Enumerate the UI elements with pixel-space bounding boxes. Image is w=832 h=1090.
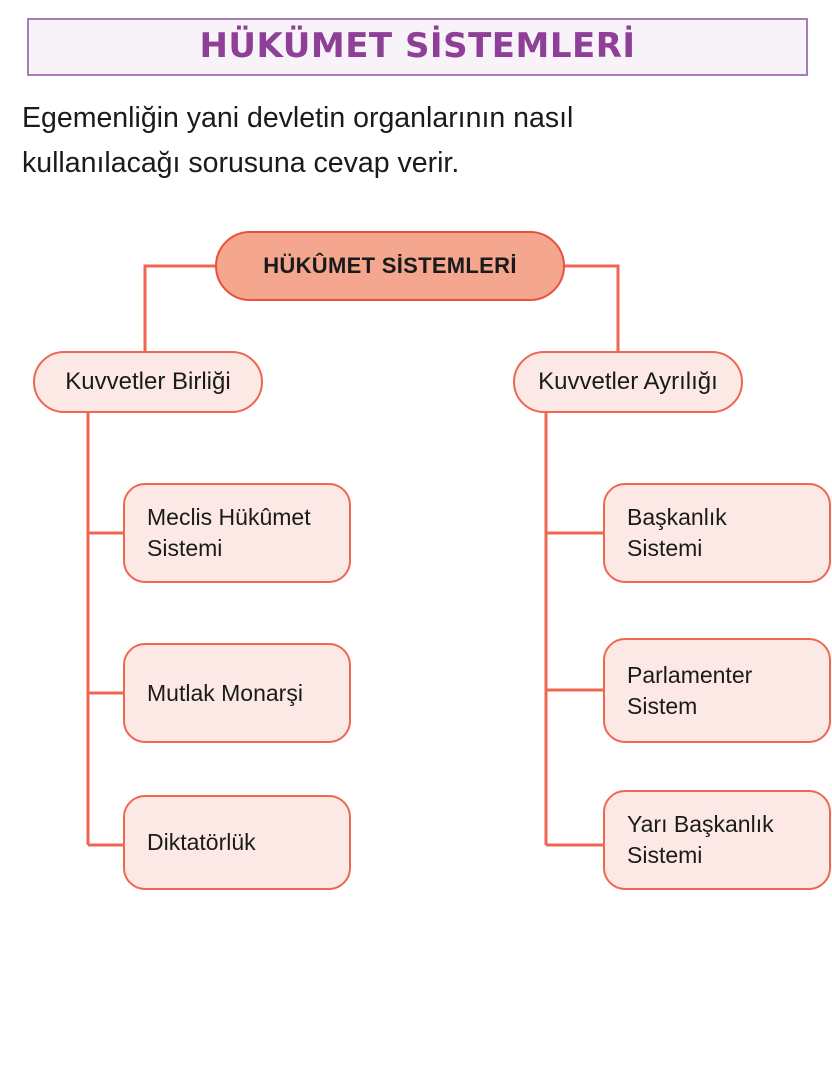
node-branch-right-label: Kuvvetler Ayrılığı	[515, 368, 741, 396]
node-leaf-line-1: Meclis Hükûmet	[147, 502, 339, 533]
node-branch-kuvvetler-ayriligi[interactable]: Kuvvetler Ayrılığı	[513, 351, 743, 413]
hukumet-sistemleri-tree-diagram: HÜKÛMET SİSTEMLERİ Kuvvetler Birliği Kuv…	[0, 0, 832, 1090]
node-leaf-line-2: Sistem	[627, 691, 819, 722]
node-branch-left-label: Kuvvetler Birliği	[35, 368, 261, 396]
node-leaf-label: Parlamenter Sistem	[627, 660, 819, 722]
node-leaf-meclis-hukumet-sistemi[interactable]: Meclis Hükûmet Sistemi	[123, 483, 351, 583]
node-leaf-line-1: Parlamenter	[627, 660, 819, 691]
node-leaf-line-1: Mutlak Monarşi	[147, 678, 339, 709]
node-leaf-label: Başkanlık Sistemi	[627, 502, 819, 564]
node-leaf-baskanlik-sistemi[interactable]: Başkanlık Sistemi	[603, 483, 831, 583]
connector-root-to-right-branch	[565, 266, 618, 353]
node-leaf-label: Meclis Hükûmet Sistemi	[147, 502, 339, 564]
node-leaf-line-2: Sistemi	[627, 840, 819, 871]
node-leaf-line-1: Yarı Başkanlık	[627, 809, 819, 840]
node-leaf-mutlak-monarsi[interactable]: Mutlak Monarşi	[123, 643, 351, 743]
connector-root-to-left-branch	[145, 266, 215, 353]
node-leaf-yari-baskanlik-sistemi[interactable]: Yarı Başkanlık Sistemi	[603, 790, 831, 890]
node-leaf-label: Mutlak Monarşi	[147, 678, 339, 709]
node-leaf-diktatorluk[interactable]: Diktatörlük	[123, 795, 351, 890]
node-leaf-parlamenter-sistem[interactable]: Parlamenter Sistem	[603, 638, 831, 743]
node-leaf-line-2: Sistemi	[147, 533, 339, 564]
node-leaf-label: Diktatörlük	[147, 827, 339, 858]
node-leaf-line-1: Diktatörlük	[147, 827, 339, 858]
node-leaf-line-2: Sistemi	[627, 533, 819, 564]
node-root-label: HÜKÛMET SİSTEMLERİ	[217, 253, 563, 279]
node-root[interactable]: HÜKÛMET SİSTEMLERİ	[215, 231, 565, 301]
node-leaf-line-1: Başkanlık	[627, 502, 819, 533]
node-branch-kuvvetler-birligi[interactable]: Kuvvetler Birliği	[33, 351, 263, 413]
node-leaf-label: Yarı Başkanlık Sistemi	[627, 809, 819, 871]
